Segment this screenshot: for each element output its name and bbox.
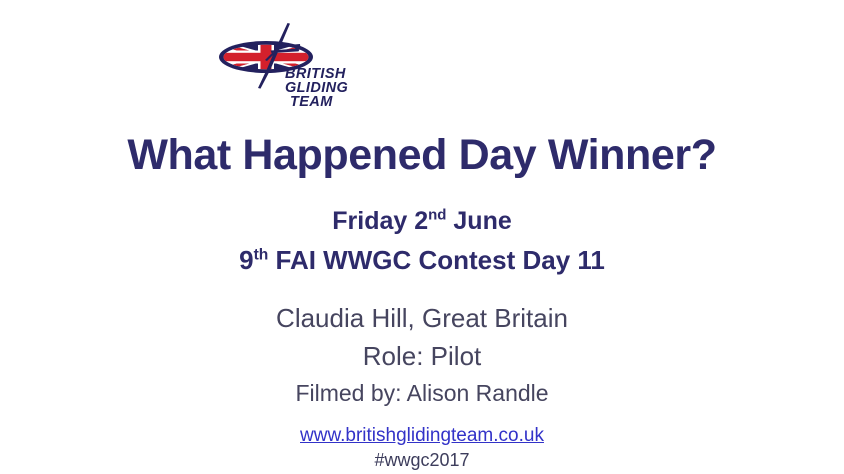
pilot-name-line: Claudia Hill, Great Britain [0,303,844,334]
logo-wordmark: BRITISH GLIDING TEAM [285,66,348,110]
hashtag-label: #wwgc2017 [0,450,844,471]
contest-suffix: FAI WWGC Contest Day 11 [268,245,605,275]
pilot-role-line: Role: Pilot [0,341,844,372]
filmed-by-line: Filmed by: Alison Randle [0,380,844,407]
date-suffix: June [446,207,511,235]
slide-date-line: Friday 2nd June [0,207,844,236]
logo-graphic: BRITISH GLIDING TEAM [214,16,364,110]
slide-contest-line: 9th FAI WWGC Contest Day 11 [0,245,844,276]
contest-ordinal-suffix: th [254,246,269,263]
date-ordinal-suffix: nd [428,207,446,224]
british-gliding-team-logo: BRITISH GLIDING TEAM [214,16,364,110]
date-prefix: Friday 2 [332,207,428,235]
presentation-slide: BRITISH GLIDING TEAM What Happened Day W… [0,0,844,474]
slide-title: What Happened Day Winner? [0,133,844,178]
website-link[interactable]: www.britishglidingteam.co.uk [0,425,844,447]
contest-prefix: 9 [239,245,253,275]
logo-line-team: TEAM [290,94,333,110]
